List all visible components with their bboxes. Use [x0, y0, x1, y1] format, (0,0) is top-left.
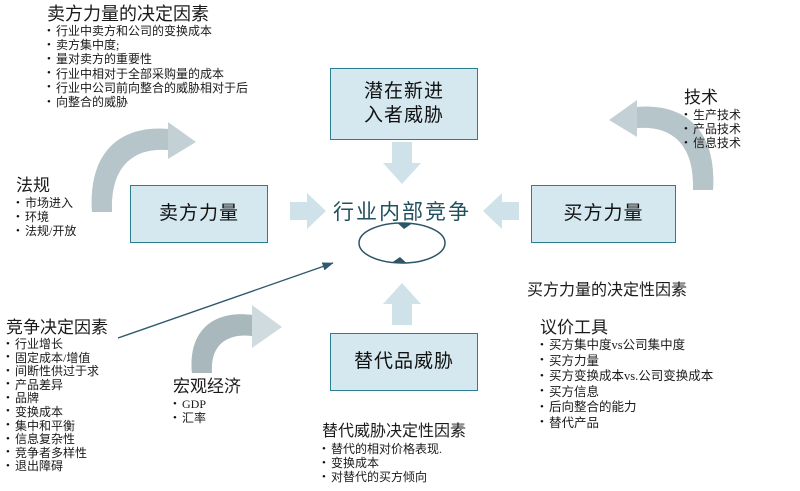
- list-item: 行业增长: [6, 338, 108, 352]
- group-supplier-determinants: 卖方力量的决定因素 行业中卖方和公司的变换成本 卖方集中度; 量对卖方的重要性 …: [47, 4, 248, 109]
- block-arrow-right-left: [483, 193, 519, 229]
- list-item: 退出障碍: [6, 460, 108, 474]
- list-item: 信息复杂性: [6, 433, 108, 447]
- block-arrow-top-down: [383, 142, 421, 184]
- group-regulation-heading: 法规: [16, 176, 76, 196]
- group-macro-economy: 宏观经济 GDP 汇率: [173, 377, 241, 425]
- group-supplier-determinants-heading: 卖方力量的决定因素: [47, 4, 248, 24]
- list-item: 卖方集中度;: [47, 38, 248, 52]
- block-arrow-left-right: [290, 193, 326, 229]
- list-item: 变换成本: [6, 406, 108, 420]
- force-box-substitutes-label: 替代品威胁: [354, 350, 454, 374]
- block-arrow-bottom-up: [383, 283, 421, 325]
- group-substitute-determinants-heading: 替代威胁决定性因素: [322, 422, 466, 442]
- list-item: 向整合的威胁: [47, 95, 248, 109]
- force-box-new-entrants-line2: 入者威胁: [364, 104, 444, 128]
- list-item: 买方集中度vs公司集中度: [540, 338, 713, 354]
- group-buyer-bargaining-tools-list: 买方集中度vs公司集中度 买方力量 买方变换成本vs.公司变换成本 买方信息 后…: [540, 338, 713, 432]
- list-item: 替代的相对价格表现.: [322, 442, 466, 456]
- group-technology-list: 生产技术 产品技术 信息技术: [684, 108, 741, 151]
- group-competition-determinants-list: 行业增长 固定成本/增值 间断性供过于求 产品差异 品牌 变换成本 集中和平衡 …: [6, 338, 108, 474]
- group-competition-determinants: 竞争决定因素 行业增长 固定成本/增值 间断性供过于求 产品差异 品牌 变换成本…: [6, 318, 108, 474]
- list-item: 买方信息: [540, 385, 713, 401]
- group-regulation-list: 市场进入 环境 法规/开放: [16, 196, 76, 239]
- curved-arrow-bottom-left: [192, 305, 282, 373]
- group-buyer-bargaining-tools-heading: 议价工具: [540, 318, 713, 338]
- list-item: 信息技术: [684, 136, 741, 150]
- list-item: 行业中公司前向整合的威胁相对于后: [47, 81, 248, 95]
- center-rivalry-label: 行业内部竞争: [333, 196, 471, 226]
- rivalry-cycle-icon: [359, 223, 445, 263]
- list-item: 买方变换成本vs.公司变换成本: [540, 369, 713, 385]
- force-box-supplier-power[interactable]: 卖方力量: [130, 185, 268, 243]
- list-item: 量对卖方的重要性: [47, 52, 248, 66]
- force-box-substitutes[interactable]: 替代品威胁: [330, 333, 478, 391]
- group-regulation: 法规 市场进入 环境 法规/开放: [16, 176, 76, 239]
- list-item: GDP: [173, 397, 241, 411]
- group-buyer-bargaining-tools: 议价工具 买方集中度vs公司集中度 买方力量 买方变换成本vs.公司变换成本 买…: [540, 318, 713, 432]
- group-technology: 技术 生产技术 产品技术 信息技术: [684, 88, 741, 151]
- list-item: 行业中相对于全部采购量的成本: [47, 67, 248, 81]
- list-item: 汇率: [173, 411, 241, 425]
- list-item: 后向整合的能力: [540, 400, 713, 416]
- list-item: 行业中卖方和公司的变换成本: [47, 24, 248, 38]
- group-buyer-determinants: 买方力量的决定性因素: [527, 281, 687, 301]
- list-item: 产品技术: [684, 122, 741, 136]
- list-item: 法规/开放: [16, 224, 76, 238]
- group-technology-heading: 技术: [684, 88, 741, 108]
- group-supplier-determinants-list: 行业中卖方和公司的变换成本 卖方集中度; 量对卖方的重要性 行业中相对于全部采购…: [47, 24, 248, 109]
- force-box-new-entrants-line1: 潜在新进: [364, 80, 444, 104]
- group-macro-economy-list: GDP 汇率: [173, 397, 241, 425]
- force-box-buyer-power[interactable]: 买方力量: [531, 185, 676, 243]
- list-item: 环境: [16, 210, 76, 224]
- list-item: 间断性供过于求: [6, 365, 108, 379]
- force-box-new-entrants[interactable]: 潜在新进 入者威胁: [330, 68, 478, 140]
- group-substitute-determinants: 替代威胁决定性因素 替代的相对价格表现. 变换成本 对替代的买方倾向: [322, 422, 466, 485]
- group-substitute-determinants-list: 替代的相对价格表现. 变换成本 对替代的买方倾向: [322, 442, 466, 485]
- force-box-supplier-power-label: 卖方力量: [159, 202, 239, 226]
- group-buyer-determinants-heading: 买方力量的决定性因素: [527, 281, 687, 301]
- group-macro-economy-heading: 宏观经济: [173, 377, 241, 397]
- group-competition-determinants-heading: 竞争决定因素: [6, 318, 108, 338]
- list-item: 品牌: [6, 392, 108, 406]
- list-item: 生产技术: [684, 108, 741, 122]
- force-box-buyer-power-label: 买方力量: [563, 202, 643, 226]
- list-item: 变换成本: [322, 456, 466, 470]
- diagram-canvas: 潜在新进 入者威胁 卖方力量 买方力量 替代品威胁 行业内部竞争 卖方力量的决定…: [0, 0, 800, 491]
- list-item: 对替代的买方倾向: [322, 470, 466, 484]
- list-item: 市场进入: [16, 196, 76, 210]
- list-item: 买方力量: [540, 354, 713, 370]
- list-item: 替代产品: [540, 416, 713, 432]
- list-item: 产品差异: [6, 379, 108, 393]
